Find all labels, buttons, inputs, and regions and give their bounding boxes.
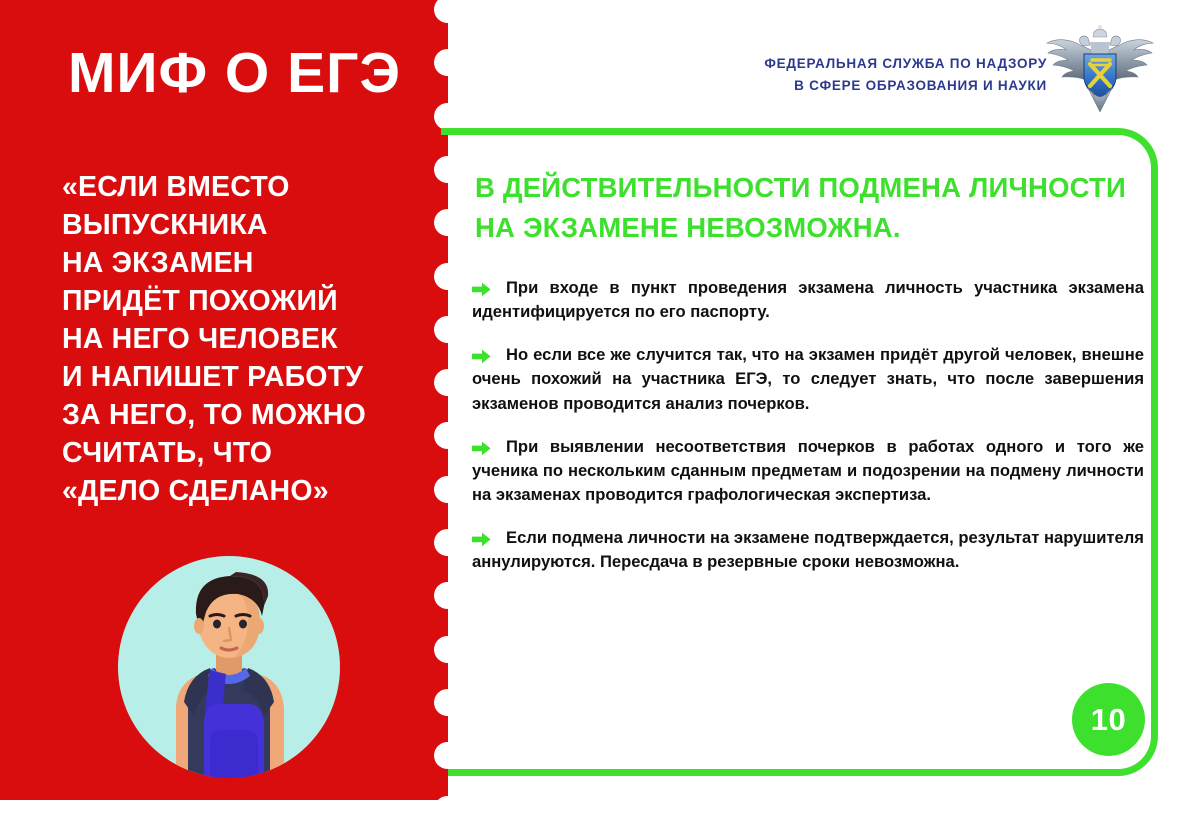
organization-line: В СФЕРЕ ОБРАЗОВАНИЯ И НАУКИ (764, 75, 1047, 97)
explanation-list: При входе в пункт проведения экзамена ли… (472, 276, 1144, 593)
organization-name: ФЕДЕРАЛЬНАЯ СЛУЖБА ПО НАДЗОРУ В СФЕРЕ ОБ… (764, 53, 1047, 97)
page-title: МИФ О ЕГЭ (68, 44, 438, 104)
rosobrnadzor-emblem-icon (1044, 24, 1156, 112)
list-item-text: Если подмена личности на экзамене подтве… (472, 526, 1144, 574)
arrow-right-icon (472, 439, 491, 454)
arrow-right-svg (472, 441, 491, 456)
quote-line: ПРИДЁТ ПОХОЖИЙ (62, 282, 422, 320)
quote-line: ЗА НЕГО, ТО МОЖНО (62, 396, 422, 434)
answer-heading-line: НА ЭКЗАМЕНЕ НЕВОЗМОЖНА. (475, 208, 1135, 248)
left-red-panel: МИФ О ЕГЭ «ЕСЛИ ВМЕСТО ВЫПУСКНИКА НА ЭКЗ… (0, 0, 448, 800)
quote-line: И НАПИШЕТ РАБОТУ (62, 358, 422, 396)
list-item-text: При выявлении несоответствия почерков в … (472, 435, 1144, 507)
answer-heading-line: В ДЕЙСТВИТЕЛЬНОСТИ ПОДМЕНА ЛИЧНОСТИ (475, 168, 1135, 208)
page-number-badge: 10 (1072, 683, 1145, 756)
arrow-right-svg (472, 282, 491, 297)
infographic-page: МИФ О ЕГЭ «ЕСЛИ ВМЕСТО ВЫПУСКНИКА НА ЭКЗ… (0, 0, 1200, 800)
list-item: Если подмена личности на экзамене подтве… (472, 526, 1144, 574)
arrow-right-icon (472, 347, 491, 362)
list-item-text: При входе в пункт проведения экзамена ли… (472, 276, 1144, 324)
arrow-right-svg (472, 349, 491, 364)
quote-line: «ДЕЛО СДЕЛАНО» (62, 472, 422, 510)
list-item: При входе в пункт проведения экзамена ли… (472, 276, 1144, 324)
perforation-notch (434, 0, 461, 23)
myth-quote: «ЕСЛИ ВМЕСТО ВЫПУСКНИКА НА ЭКЗАМЕН ПРИДЁ… (62, 168, 422, 510)
perforation-notch (434, 103, 461, 130)
list-item: Но если все же случится так, что на экза… (472, 343, 1144, 415)
list-item: При выявлении несоответствия почерков в … (472, 435, 1144, 507)
emblem-svg (1044, 24, 1156, 112)
quote-line: НА НЕГО ЧЕЛОВЕК (62, 320, 422, 358)
answer-heading: В ДЕЙСТВИТЕЛЬНОСТИ ПОДМЕНА ЛИЧНОСТИ НА Э… (475, 168, 1135, 247)
list-item-text: Но если все же случится так, что на экза… (472, 343, 1144, 415)
student-illustration (118, 556, 340, 778)
organization-line: ФЕДЕРАЛЬНАЯ СЛУЖБА ПО НАДЗОРУ (764, 53, 1047, 75)
quote-line: ВЫПУСКНИКА (62, 206, 422, 244)
quote-line: НА ЭКЗАМЕН (62, 244, 422, 282)
arrow-right-icon (472, 280, 491, 295)
student-svg (118, 556, 340, 778)
arrow-right-svg (472, 532, 491, 547)
quote-line: СЧИТАТЬ, ЧТО (62, 434, 422, 472)
illustration-circle-bg (118, 556, 340, 778)
perforation-notch (434, 49, 461, 76)
quote-line: «ЕСЛИ ВМЕСТО (62, 168, 422, 206)
arrow-right-icon (472, 530, 491, 545)
